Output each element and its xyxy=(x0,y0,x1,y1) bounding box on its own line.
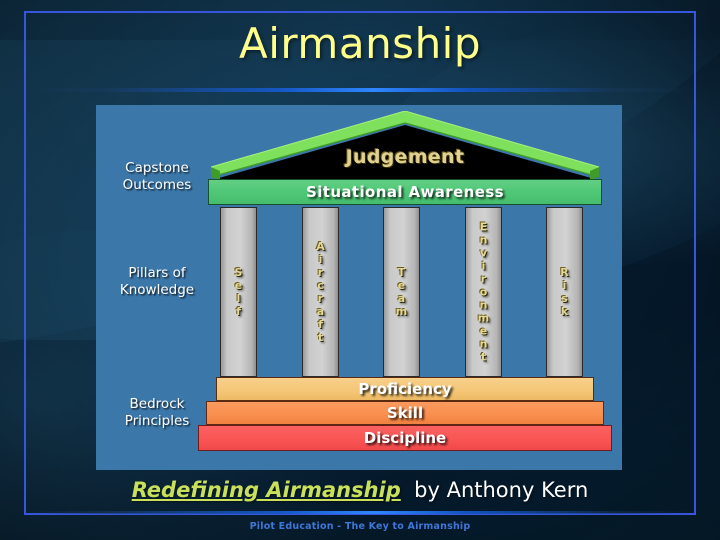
base-step-skill-label: Skill xyxy=(207,402,603,424)
pillar-team-label: Team xyxy=(384,266,419,318)
slide-title: Airmanship xyxy=(0,14,720,74)
label-pillars-line1: Pillars of xyxy=(106,265,208,282)
label-capstone-outcomes: Capstone Outcomes xyxy=(106,160,208,194)
base-step-discipline-label: Discipline xyxy=(199,426,611,450)
pillar-self: Self xyxy=(220,207,257,377)
slide-canvas: Airmanship Capstone Outcomes Pillars of … xyxy=(0,0,720,540)
pillar-aircraft: Aircraft xyxy=(302,207,339,377)
base-step-discipline: Discipline xyxy=(198,425,612,451)
label-bedrock-line1: Bedrock xyxy=(106,396,208,413)
source-caption: Redefining Airmanship by Anthony Kern xyxy=(0,477,720,503)
pillar-aircraft-label: Aircraft xyxy=(303,240,338,344)
label-pillars-of-knowledge: Pillars of Knowledge xyxy=(106,265,208,299)
label-capstone-line2: Outcomes xyxy=(106,177,208,194)
title-divider-line xyxy=(26,88,694,92)
pediment-label-judgement: Judgement xyxy=(210,146,600,168)
label-pillars-line2: Knowledge xyxy=(106,282,208,299)
pillar-risk-label: Risk xyxy=(547,266,582,318)
pillar-team: Team xyxy=(383,207,420,377)
pillar-self-label: Self xyxy=(221,266,256,318)
slide-footer: Pilot Education - The Key to Airmanship xyxy=(0,521,720,532)
pillar-environment-label: Environment xyxy=(466,221,501,364)
architrave-situational-awareness: Situational Awareness xyxy=(208,179,602,205)
label-bedrock-principles: Bedrock Principles xyxy=(106,396,208,430)
pillar-environment: Environment xyxy=(465,207,502,377)
caption-spacer xyxy=(401,478,414,502)
architrave-label: Situational Awareness xyxy=(209,180,601,204)
footer-divider-line xyxy=(26,511,694,514)
label-capstone-line1: Capstone xyxy=(106,160,208,177)
base-step-skill: Skill xyxy=(206,401,604,425)
label-bedrock-line2: Principles xyxy=(106,413,208,430)
book-title: Redefining Airmanship xyxy=(132,478,401,502)
base-step-proficiency: Proficiency xyxy=(216,377,594,401)
book-author: by Anthony Kern xyxy=(414,478,588,502)
airmanship-model-panel: Capstone Outcomes Pillars of Knowledge B… xyxy=(96,105,622,470)
base-step-proficiency-label: Proficiency xyxy=(217,378,593,400)
pillar-risk: Risk xyxy=(546,207,583,377)
